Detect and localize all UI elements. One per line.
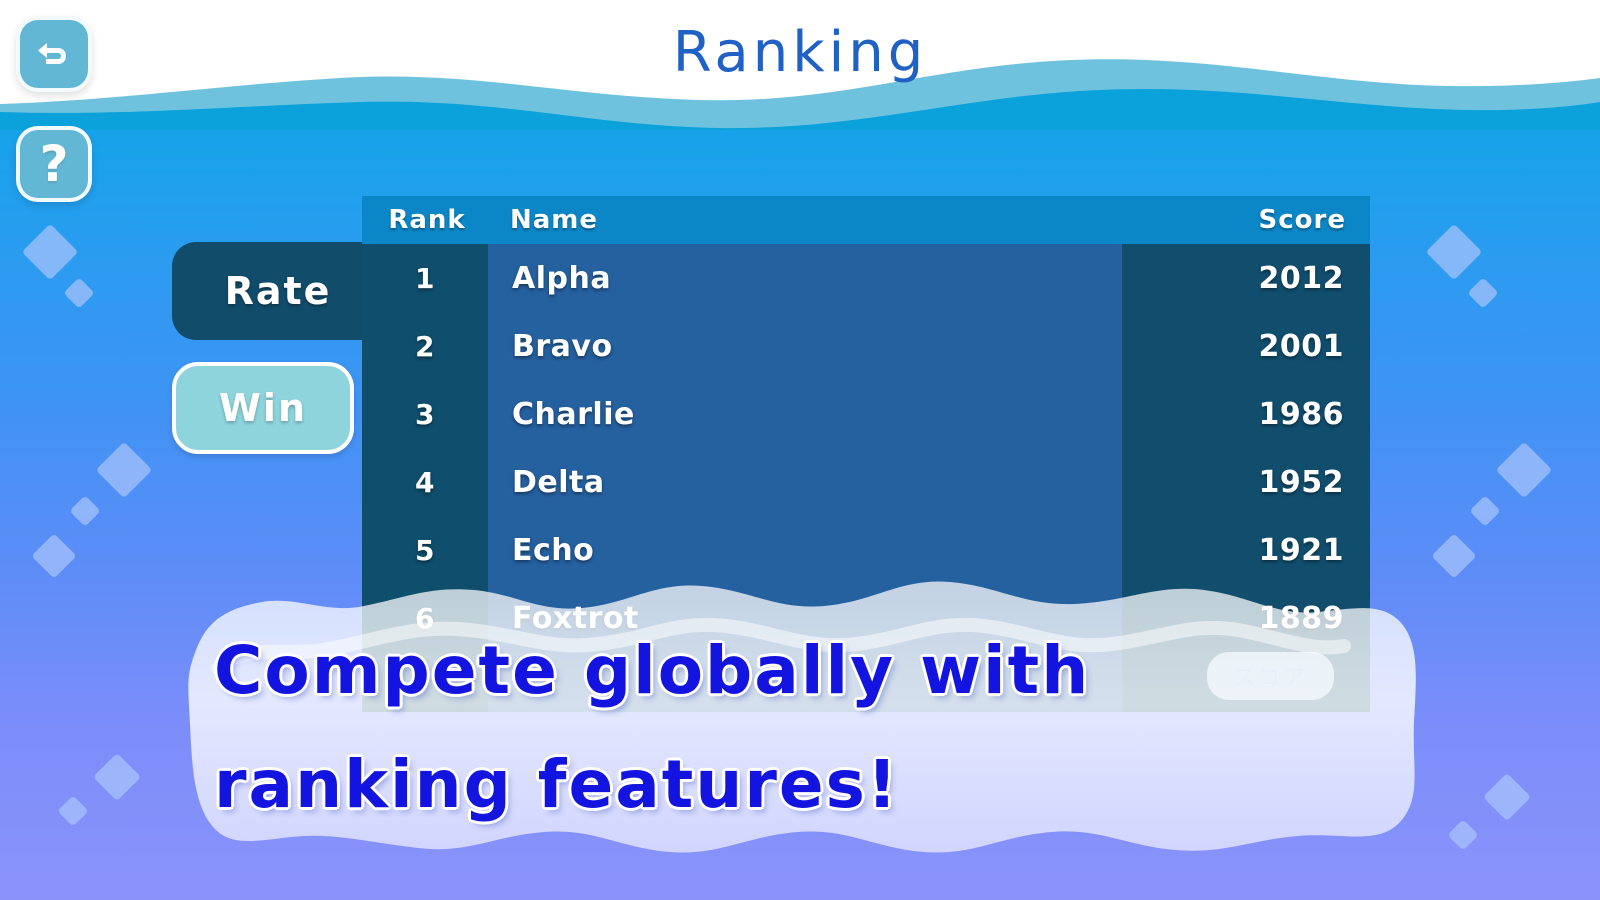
cell-score: 2001	[1096, 329, 1370, 364]
table-row[interactable]: 3Charlie1986	[362, 380, 1370, 448]
table-header-row: Rank Name Score	[362, 196, 1370, 244]
tab-win[interactable]: Win	[172, 362, 354, 454]
app-screen: Ranking ? Rate Win Rank Name Score 1Alph…	[0, 0, 1600, 900]
caption-text: Compete globally with ranking features!	[214, 614, 1394, 841]
table-row[interactable]: 4Delta1952	[362, 448, 1370, 516]
table-row[interactable]: 1Alpha2012	[362, 244, 1370, 312]
cell-name: Echo	[488, 533, 1096, 568]
table-row[interactable]: 5Echo1921	[362, 516, 1370, 584]
undo-arrow-icon	[33, 33, 75, 75]
cell-name: Delta	[488, 465, 1096, 500]
cell-rank: 5	[362, 534, 488, 567]
cell-score: 1952	[1096, 465, 1370, 500]
caption-line-2: ranking features!	[214, 728, 1394, 842]
question-mark-icon: ?	[39, 139, 68, 189]
cell-rank: 4	[362, 466, 488, 499]
cell-score: 2012	[1096, 261, 1370, 296]
column-header-name: Name	[492, 205, 1166, 235]
cell-score: 1921	[1096, 533, 1370, 568]
back-button[interactable]	[16, 16, 92, 92]
caption-line-1: Compete globally with	[214, 614, 1394, 728]
cell-name: Alpha	[488, 261, 1096, 296]
table-row[interactable]: 2Bravo2001	[362, 312, 1370, 380]
help-button[interactable]: ?	[16, 126, 92, 202]
cell-rank: 1	[362, 262, 488, 295]
cell-name: Charlie	[488, 397, 1096, 432]
column-header-rank: Rank	[362, 205, 492, 235]
tab-win-label: Win	[219, 386, 307, 430]
cell-rank: 3	[362, 398, 488, 431]
cell-score: 1986	[1096, 397, 1370, 432]
tab-rate-label: Rate	[225, 269, 332, 313]
column-header-score: Score	[1166, 205, 1370, 235]
page-title: Ranking	[0, 20, 1600, 85]
cell-name: Bravo	[488, 329, 1096, 364]
cell-rank: 2	[362, 330, 488, 363]
